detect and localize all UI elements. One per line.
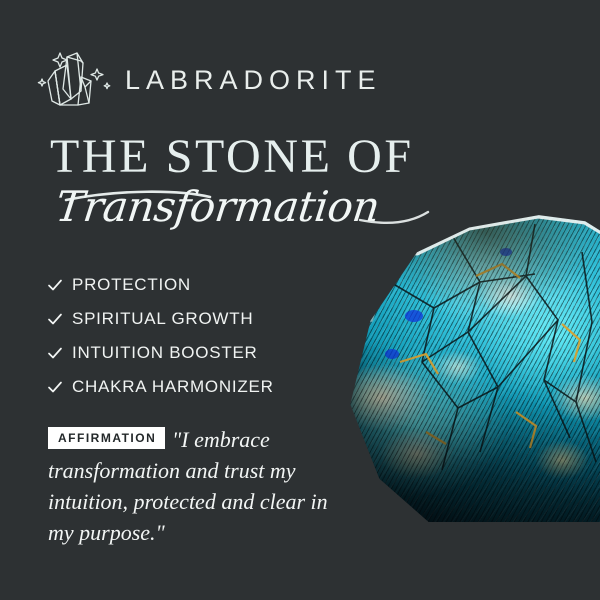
- stone-rim-highlight: [330, 212, 600, 522]
- brand-name: LABRADORITE: [125, 67, 382, 94]
- check-icon: [46, 378, 72, 396]
- page-title: THE STONE OF: [50, 133, 414, 181]
- page-subtitle-script: Transformation: [53, 186, 381, 228]
- list-item: SPIRITUAL GROWTH: [46, 303, 274, 334]
- check-icon: [46, 310, 72, 328]
- brand-logo: LABRADORITE: [33, 47, 382, 113]
- labradorite-stone-image: [330, 212, 600, 522]
- affirmation-block: "I embrace transformation and trust my i…: [48, 424, 348, 548]
- check-icon: [46, 344, 72, 362]
- check-icon: [46, 276, 72, 294]
- benefit-label: PROTECTION: [72, 275, 191, 295]
- benefit-label: SPIRITUAL GROWTH: [72, 309, 253, 329]
- benefits-list: PROTECTION SPIRITUAL GROWTH INTUITION BO…: [46, 269, 274, 405]
- crystal-cluster-icon: [33, 47, 111, 113]
- benefit-label: CHAKRA HARMONIZER: [72, 377, 274, 397]
- list-item: CHAKRA HARMONIZER: [46, 371, 274, 402]
- list-item: PROTECTION: [46, 269, 274, 300]
- status-badge: AFFIRMATION: [48, 427, 165, 449]
- benefit-label: INTUITION BOOSTER: [72, 343, 258, 363]
- crystal-info-card: LABRADORITE THE STONE OF Transformation …: [0, 0, 600, 600]
- list-item: INTUITION BOOSTER: [46, 337, 274, 368]
